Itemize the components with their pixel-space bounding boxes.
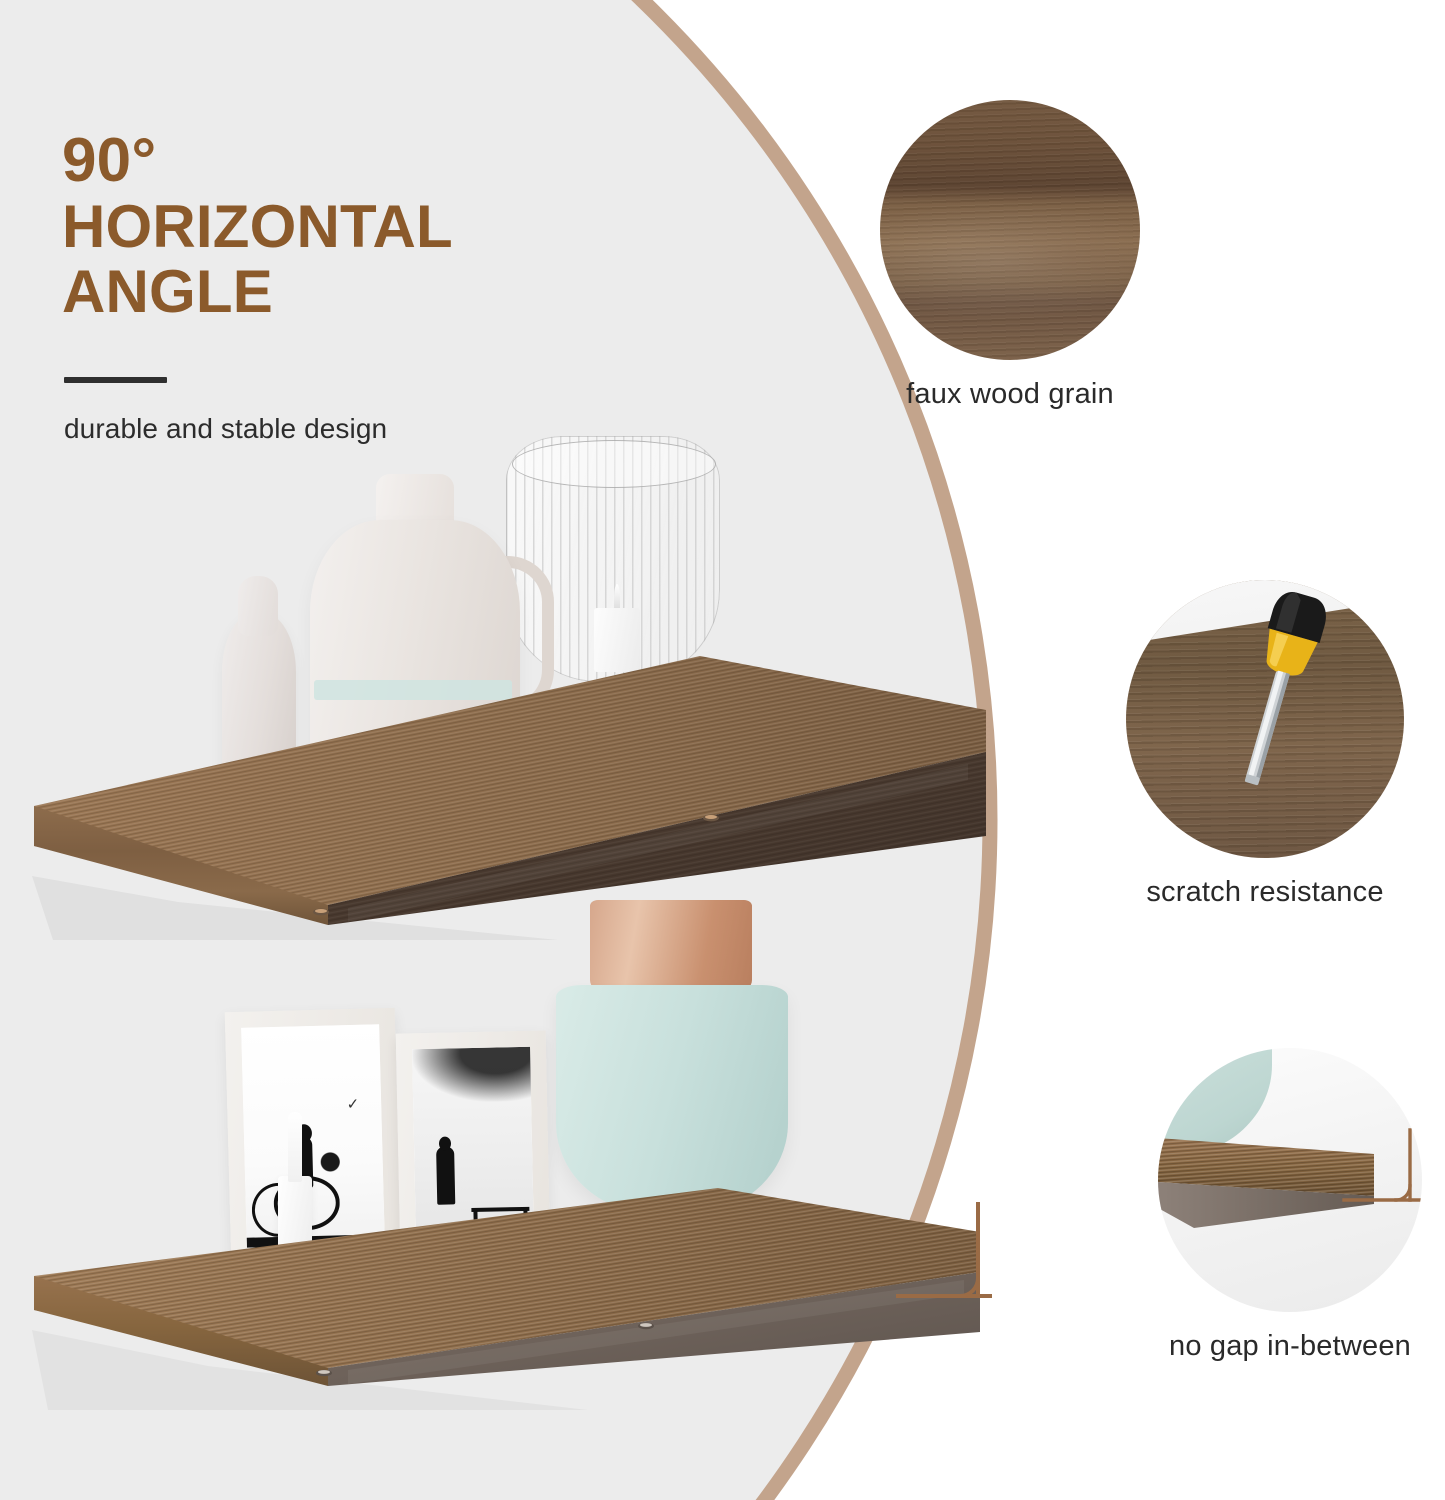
- right-angle-indicator-small: [1340, 1126, 1422, 1223]
- screwdriver-icon: [1212, 590, 1362, 800]
- product-feature-panel: 90° HORIZONTAL ANGLE durable and stable …: [0, 0, 1445, 1500]
- lower-shelf-board: [28, 1180, 1008, 1410]
- upper-shelf-board: [28, 640, 988, 940]
- bird-silhouette: ✓: [346, 1097, 359, 1112]
- feature-faux-wood-grain: faux wood grain: [860, 100, 1160, 411]
- feature-no-gap-in-between: no gap in-between: [1140, 1048, 1440, 1363]
- feature-scratch-resistance: scratch resistance: [1100, 580, 1430, 909]
- feature-caption-no-gap-in-between: no gap in-between: [1140, 1330, 1440, 1363]
- no-gap-circle: [1158, 1048, 1422, 1312]
- mint-green-vase: [556, 985, 788, 1213]
- faux-wood-grain-circle: [880, 100, 1140, 360]
- scratch-resistance-circle: [1126, 580, 1404, 858]
- hurricane-rim: [512, 440, 716, 488]
- copper-vase-top: [590, 900, 752, 994]
- feature-caption-scratch-resistance: scratch resistance: [1100, 876, 1430, 909]
- right-angle-indicator: [880, 1190, 1010, 1320]
- wood-grain-texture: [880, 100, 1140, 360]
- feature-caption-faux-wood-grain: faux wood grain: [860, 378, 1160, 411]
